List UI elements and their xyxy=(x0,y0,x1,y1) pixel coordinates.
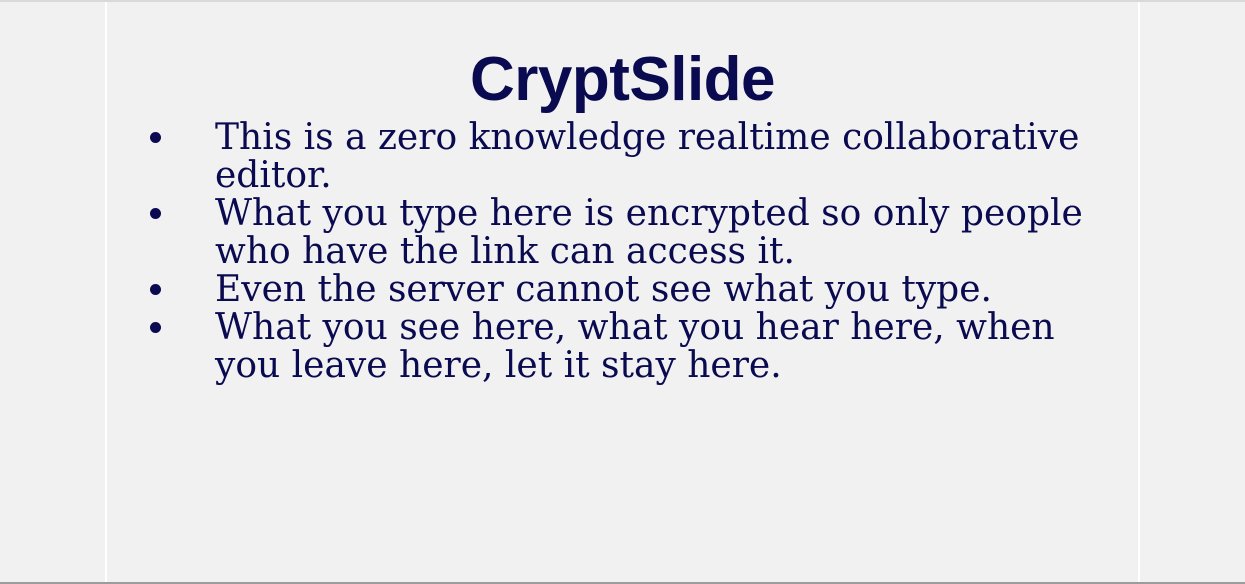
slide-viewer-root: CryptSlide This is a zero knowledge real… xyxy=(0,0,1245,584)
slide-canvas[interactable]: CryptSlide This is a zero knowledge real… xyxy=(107,2,1138,582)
bullet-dot-icon xyxy=(150,208,161,219)
bullet-dot-icon xyxy=(150,284,161,295)
slide-title[interactable]: CryptSlide xyxy=(107,45,1138,115)
bullet-dot-icon xyxy=(150,132,161,143)
list-item[interactable]: Even the server cannot see what you type… xyxy=(145,271,1124,309)
bullet-text[interactable]: Even the server cannot see what you type… xyxy=(215,271,1124,309)
bullet-text[interactable]: What you see here, what you hear here, w… xyxy=(215,309,1124,385)
bullet-text[interactable]: What you type here is encrypted so only … xyxy=(215,195,1124,271)
bullet-text[interactable]: This is a zero knowledge realtime collab… xyxy=(215,119,1124,195)
right-gutter xyxy=(1140,2,1245,582)
list-item[interactable]: This is a zero knowledge realtime collab… xyxy=(145,119,1124,195)
left-gutter xyxy=(0,2,105,582)
slide-right-edge-divider xyxy=(1138,2,1140,582)
slide-bullet-list: This is a zero knowledge realtime collab… xyxy=(145,119,1124,385)
list-item[interactable]: What you see here, what you hear here, w… xyxy=(145,309,1124,385)
list-item[interactable]: What you type here is encrypted so only … xyxy=(145,195,1124,271)
bullet-dot-icon xyxy=(150,322,161,333)
